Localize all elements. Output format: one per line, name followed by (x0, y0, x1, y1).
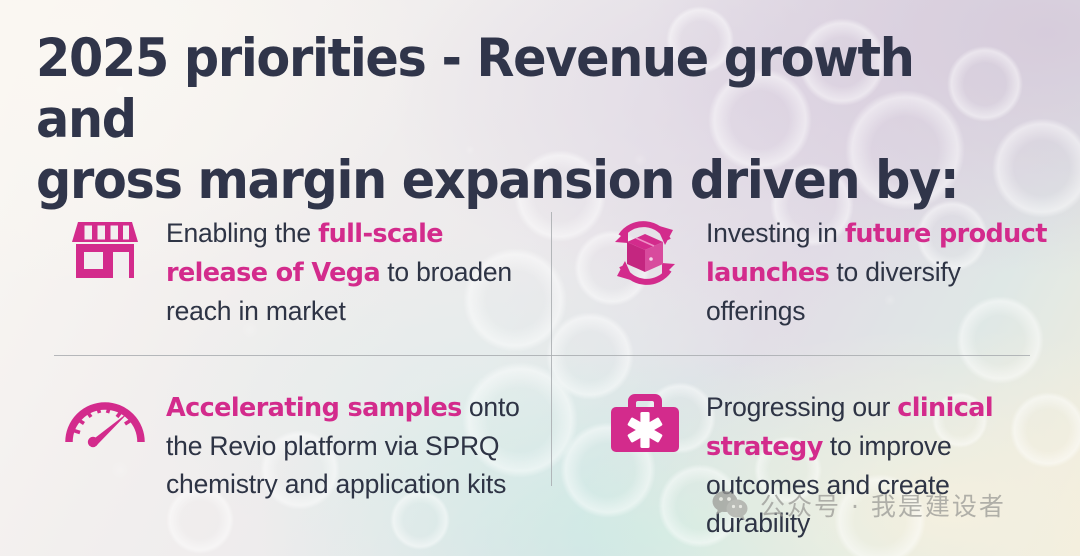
priority-item-clinical-strategy: Progressing our clinical strategy to imp… (600, 386, 1060, 542)
slide-root: 2025 priorities - Revenue growth and gro… (0, 0, 1080, 556)
page-title: 2025 priorities - Revenue growth and gro… (36, 28, 994, 211)
priority-item-text: Enabling the full-scale release of Vega … (166, 212, 540, 330)
priority-item-future-product-launches: Investing in future product launches to … (600, 212, 1060, 330)
medical-bag-icon (600, 386, 690, 470)
priority-item-accelerating-samples: Accelerating samples onto the Revio plat… (60, 386, 540, 503)
product-cycle-icon (600, 212, 690, 296)
priority-item-text: Investing in future product launches to … (706, 212, 1060, 330)
priority-item-full-scale-release-of-vega: Enabling the full-scale release of Vega … (60, 212, 540, 330)
priority-item-text: Accelerating samples onto the Revio plat… (166, 386, 540, 503)
priorities-grid: Enabling the full-scale release of Vega … (0, 196, 1080, 556)
text-segment: Enabling the (166, 218, 318, 248)
priority-item-text: Progressing our clinical strategy to imp… (706, 386, 1060, 542)
text-highlight: Accelerating samples (166, 393, 462, 423)
text-segment: Progressing our (706, 392, 897, 422)
storefront-icon (60, 212, 150, 296)
text-segment: Investing in (706, 218, 845, 248)
gauge-icon (60, 386, 150, 470)
